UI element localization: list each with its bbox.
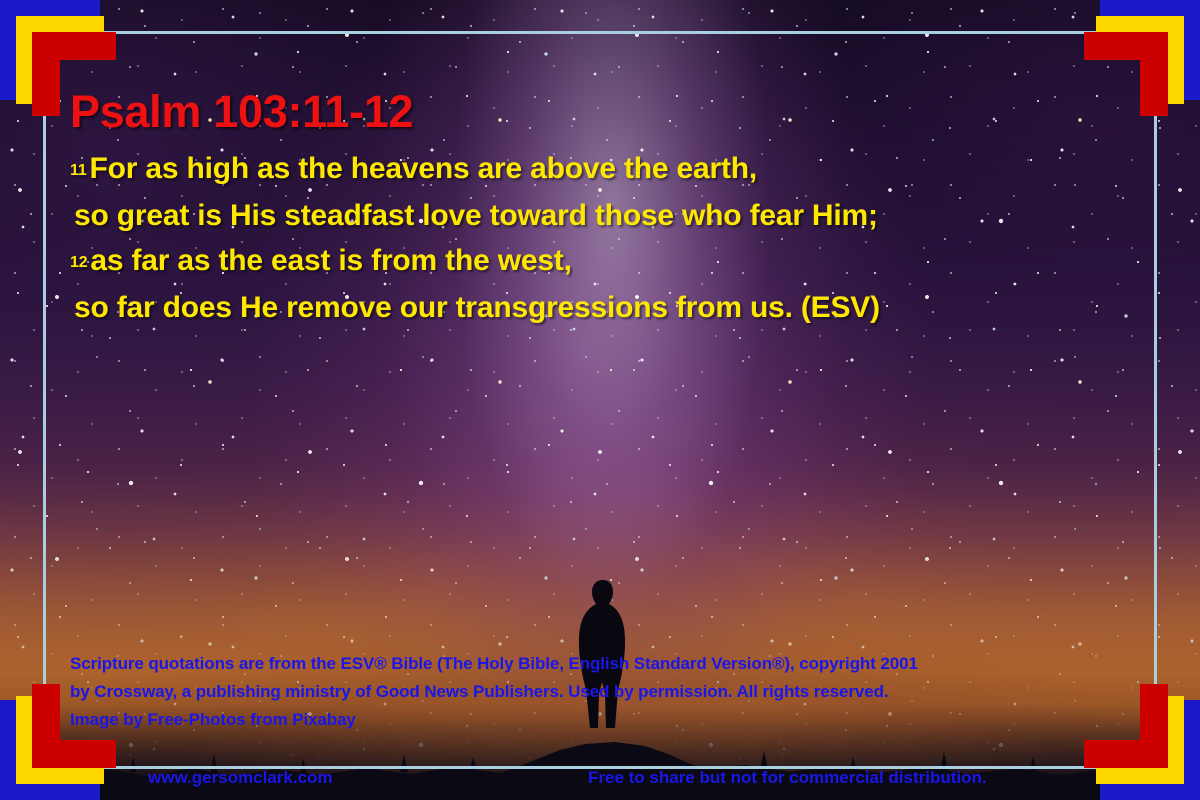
verse-number: 12 xyxy=(70,254,87,271)
verse-text-block: 11For as high as the heavens are above t… xyxy=(70,146,1130,330)
verse-line-text: so far does He remove our transgressions… xyxy=(74,291,880,324)
verse-line-text: as far as the east is from the west, xyxy=(90,244,571,277)
verse-line-text: For as high as the heavens are above the… xyxy=(90,152,758,185)
copyright-credits-block: Scripture quotations are from the ESV® B… xyxy=(70,650,1130,734)
verse-number: 11 xyxy=(70,162,87,179)
verse-line: 12as far as the east is from the west, xyxy=(70,238,1130,285)
image-attribution-line: Image by Free-Photos from Pixabay xyxy=(70,706,1130,734)
website-url[interactable]: www.gersomclark.com xyxy=(148,768,333,788)
esv-copyright-line-2: by Crossway, a publishing ministry of Go… xyxy=(70,678,1130,706)
distribution-notice: Free to share but not for commercial dis… xyxy=(588,768,987,788)
scripture-poster: Psalm 103:11-12 11For as high as the hea… xyxy=(0,0,1200,800)
poster-content: Psalm 103:11-12 11For as high as the hea… xyxy=(0,0,1200,800)
verse-line: so great is His steadfast love toward th… xyxy=(70,193,1130,238)
verse-line: so far does He remove our transgressions… xyxy=(70,285,1130,330)
verse-line: 11For as high as the heavens are above t… xyxy=(70,146,1130,193)
verse-line-text: so great is His steadfast love toward th… xyxy=(74,199,878,232)
scripture-reference-title: Psalm 103:11-12 xyxy=(70,86,413,138)
esv-copyright-line-1: Scripture quotations are from the ESV® B… xyxy=(70,650,1130,678)
